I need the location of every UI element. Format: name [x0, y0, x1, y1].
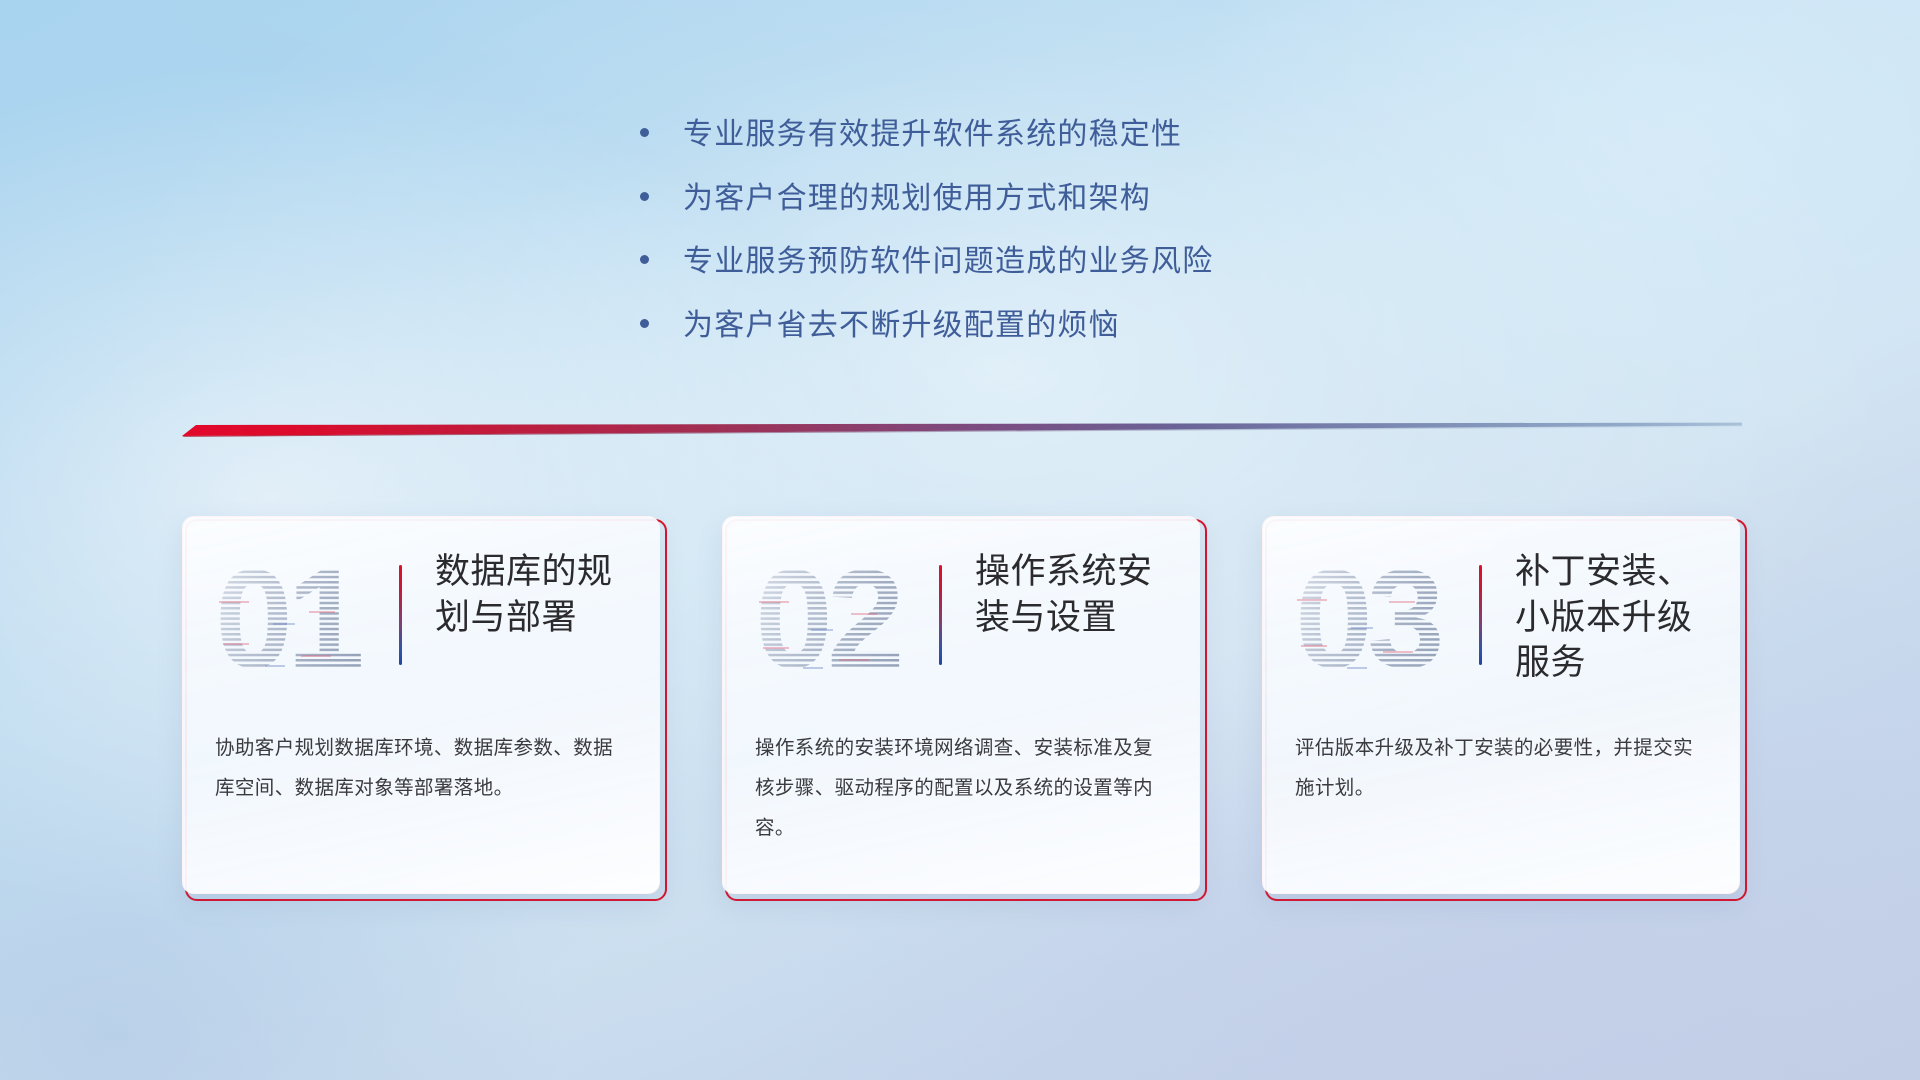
ghost-number-03-icon: 03: [1293, 555, 1463, 687]
bullet-dot-icon: [640, 319, 649, 328]
card-panel: 02 操作系统: [722, 516, 1200, 894]
bullet-dot-icon: [640, 128, 649, 137]
list-item: 为客户省去不断升级配置的烦恼: [640, 309, 1213, 343]
card-body-text: 操作系统的安装环境网络调查、安装标准及复核步骤、驱动程序的配置以及系统的设置等内…: [755, 729, 1171, 849]
bullet-text: 专业服务有效提升软件系统的稳定性: [683, 118, 1182, 152]
svg-text:02: 02: [755, 555, 900, 687]
card-accent-bar: [939, 565, 942, 665]
card-title: 操作系统安装与设置: [975, 549, 1183, 640]
card-accent-bar: [1479, 565, 1482, 665]
svg-text:03: 03: [1295, 555, 1440, 687]
bullet-dot-icon: [640, 255, 649, 264]
card-row: 01 数据库的: [182, 516, 1742, 906]
slide-canvas: 专业服务有效提升软件系统的稳定性 为客户合理的规划使用方式和架构 专业服务预防软…: [0, 0, 1920, 1080]
bullet-list: 专业服务有效提升软件系统的稳定性 为客户合理的规划使用方式和架构 专业服务预防软…: [640, 118, 1213, 342]
bullet-text: 专业服务预防软件问题造成的业务风险: [683, 245, 1213, 279]
card-title: 补丁安装、小版本升级服务: [1515, 549, 1723, 686]
card-panel: 01 数据库的: [182, 516, 660, 894]
service-card[interactable]: 03 补丁安装: [1262, 516, 1742, 898]
card-title: 数据库的规划与部署: [435, 549, 643, 640]
list-item: 专业服务预防软件问题造成的业务风险: [640, 245, 1213, 279]
ghost-number-01-icon: 01: [213, 555, 383, 687]
bullet-text: 为客户合理的规划使用方式和架构: [683, 182, 1151, 216]
card-header: 01 数据库的: [183, 517, 659, 723]
service-card[interactable]: 02 操作系统: [722, 516, 1202, 898]
service-card[interactable]: 01 数据库的: [182, 516, 662, 898]
bullet-text: 为客户省去不断升级配置的烦恼: [683, 309, 1120, 343]
svg-text:01: 01: [215, 555, 361, 687]
list-item: 为客户合理的规划使用方式和架构: [640, 182, 1213, 216]
card-body-text: 协助客户规划数据库环境、数据库参数、数据库空间、数据库对象等部署落地。: [215, 729, 631, 809]
list-item: 专业服务有效提升软件系统的稳定性: [640, 118, 1213, 152]
tapered-accent-divider: [182, 420, 1742, 442]
card-header: 03 补丁安装: [1263, 517, 1739, 723]
card-header: 02 操作系统: [723, 517, 1199, 723]
bullet-dot-icon: [640, 192, 649, 201]
ghost-number-02-icon: 02: [753, 555, 923, 687]
card-body-text: 评估版本升级及补丁安装的必要性，并提交实施计划。: [1295, 729, 1711, 809]
card-panel: 03 补丁安装: [1262, 516, 1740, 894]
card-accent-bar: [399, 565, 402, 665]
